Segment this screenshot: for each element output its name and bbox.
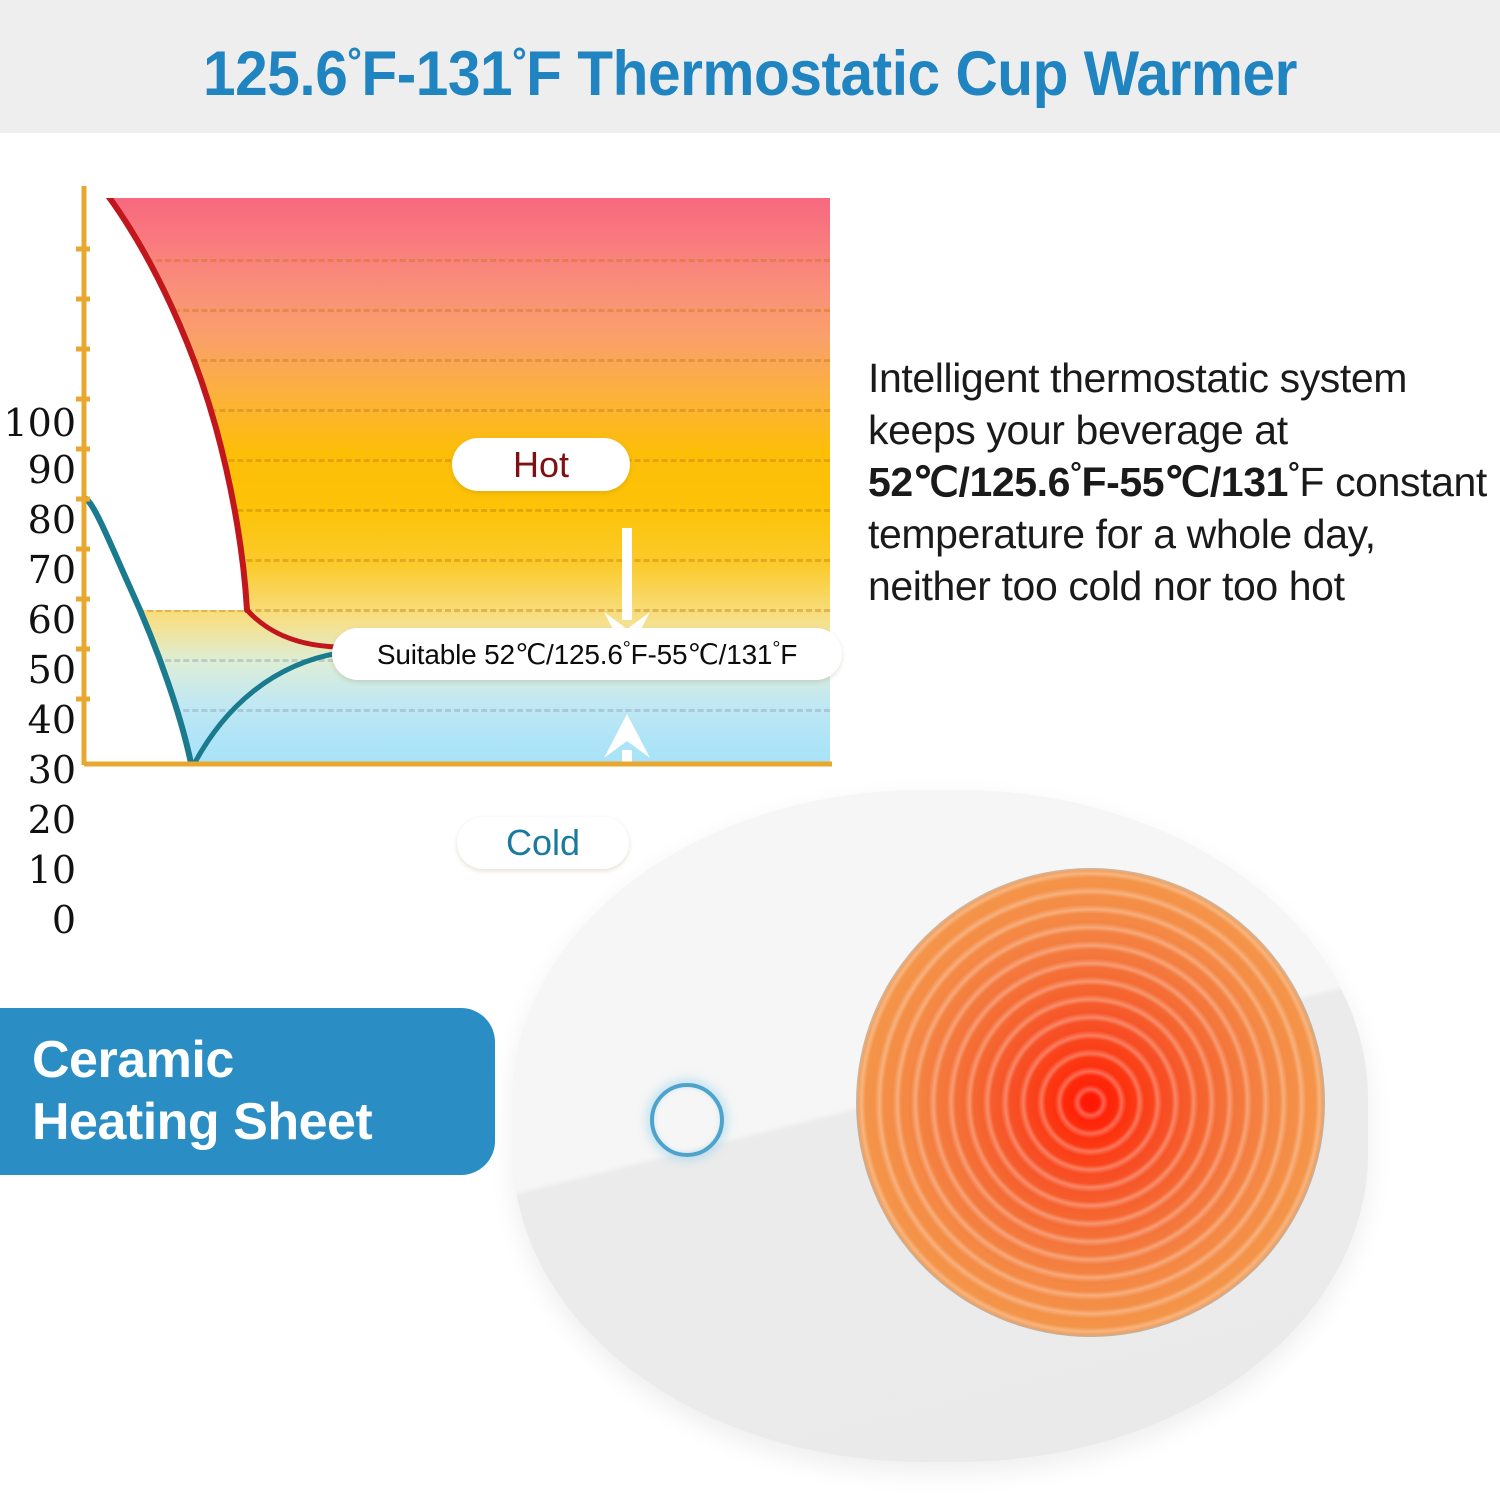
gridline bbox=[84, 709, 830, 712]
cup-warmer-device bbox=[513, 790, 1368, 1462]
y-axis-tick-label: 10 bbox=[0, 851, 76, 889]
cold-label-text: Cold bbox=[506, 822, 580, 864]
y-axis-tick-label: 100 bbox=[0, 404, 76, 442]
gridline bbox=[84, 559, 830, 562]
y-axis-tick-label: 90 bbox=[0, 451, 76, 489]
y-axis-tick-label: 50 bbox=[0, 651, 76, 689]
cold-curve bbox=[84, 498, 192, 763]
gridline bbox=[84, 509, 830, 512]
y-axis-tick-label: 40 bbox=[0, 701, 76, 739]
cold-curve-tail bbox=[192, 653, 339, 763]
y-axis-tick-label: 70 bbox=[0, 551, 76, 589]
hot-curve-tail bbox=[247, 610, 339, 647]
cold-label-badge: Cold bbox=[457, 817, 629, 869]
gridline bbox=[84, 609, 830, 612]
y-axis-tick-label: 60 bbox=[0, 601, 76, 639]
y-axis-tick-label: 0 bbox=[0, 901, 76, 939]
arrow-up-icon bbox=[600, 714, 654, 763]
cold-curve-mask bbox=[84, 498, 192, 763]
heat-rings-icon bbox=[858, 870, 1323, 1335]
gridline bbox=[84, 409, 830, 412]
suitable-label-text: Suitable 52℃/125.6°F-55℃/131°F bbox=[377, 638, 797, 671]
y-axis-tick-label: 20 bbox=[0, 801, 76, 839]
gridline bbox=[84, 259, 830, 262]
gridline bbox=[84, 359, 830, 362]
ceramic-badge-line2: Heating Sheet bbox=[32, 1092, 495, 1153]
suitable-range-badge: Suitable 52℃/125.6°F-55℃/131°F bbox=[332, 628, 842, 680]
y-axis-tick-label: 30 bbox=[0, 751, 76, 789]
hot-label-badge: Hot bbox=[452, 438, 630, 491]
ceramic-heating-sheet-badge: Ceramic Heating Sheet bbox=[0, 1008, 495, 1175]
temperature-chart: 100 90 80 70 60 50 40 30 20 10 0 bbox=[0, 168, 860, 793]
page-title: 125.6°F-131°F Thermostatic Cup Warmer bbox=[53, 38, 1448, 110]
ceramic-badge-line1: Ceramic bbox=[32, 1030, 495, 1091]
feature-description: Intelligent thermostatic system keeps yo… bbox=[868, 352, 1498, 612]
power-button[interactable] bbox=[650, 1083, 724, 1157]
hot-label-text: Hot bbox=[513, 444, 569, 486]
y-axis-tick-label: 80 bbox=[0, 501, 76, 539]
gridline bbox=[84, 309, 830, 312]
heating-plate bbox=[858, 870, 1323, 1335]
